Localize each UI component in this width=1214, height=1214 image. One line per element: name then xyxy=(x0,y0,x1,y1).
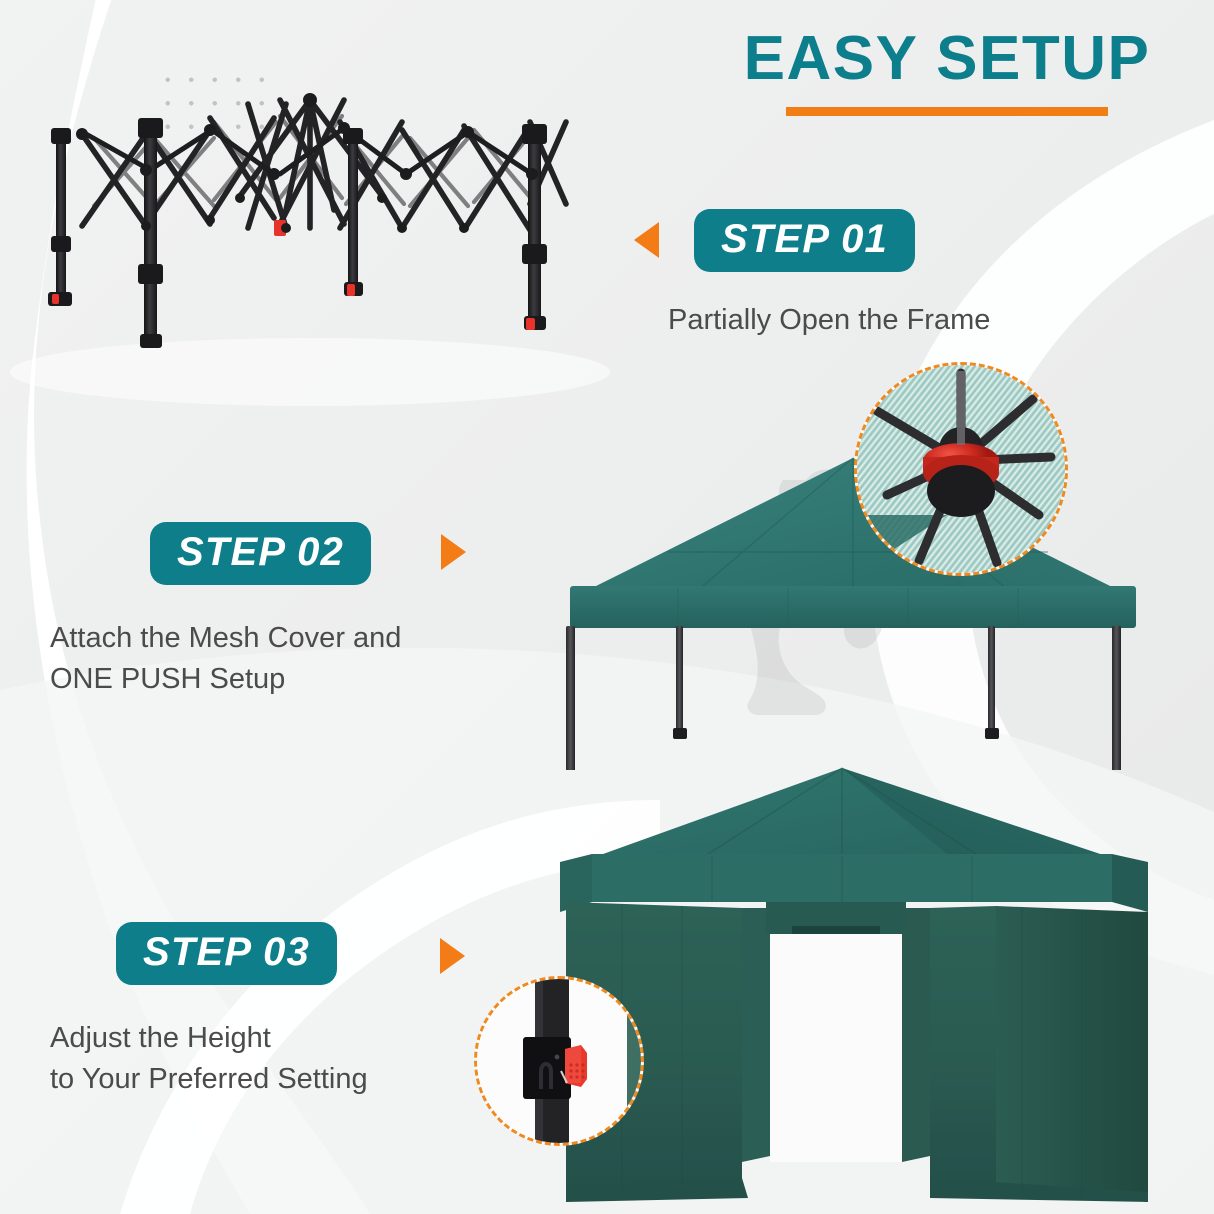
slider-housing xyxy=(523,1037,571,1099)
canopy-with-mesh-cover-image xyxy=(548,440,1158,770)
step-badge-03: STEP 03 xyxy=(116,922,337,985)
canopy-sidewall-svg xyxy=(552,762,1172,1202)
red-button-texture xyxy=(569,1063,584,1078)
step-description-01: Partially Open the Frame xyxy=(668,300,990,341)
canopy-valance xyxy=(570,586,1136,628)
triangle-right-icon-03 xyxy=(440,938,465,974)
step-badge-01: STEP 01 xyxy=(694,209,915,272)
triangle-right-icon-02 xyxy=(441,534,466,570)
infographic-root: EASY SETUP STEP 01 Partially Open the Fr… xyxy=(0,0,1214,1214)
canopy3-valance xyxy=(592,854,1112,902)
step-description-03: Adjust the Height to Your Preferred Sett… xyxy=(50,1018,368,1100)
push-button-hub-closeup xyxy=(854,362,1068,576)
hub-closeup-svg xyxy=(857,365,1065,573)
frame-svg xyxy=(34,78,594,378)
height-adjust-button-closeup xyxy=(474,976,644,1146)
door-flap-left xyxy=(742,908,770,1162)
page-title: EASY SETUP xyxy=(712,28,1182,90)
step-badge-02-label: STEP 02 xyxy=(177,531,344,573)
page-title-block: EASY SETUP xyxy=(712,28,1182,116)
title-underline xyxy=(786,107,1108,116)
height-button-svg xyxy=(477,979,641,1143)
housing-pin xyxy=(555,1055,560,1060)
red-clip-icon xyxy=(52,220,535,330)
canopy-mesh-svg xyxy=(548,440,1158,770)
step-badge-02: STEP 02 xyxy=(150,522,371,585)
step-description-02: Attach the Mesh Cover and ONE PUSH Setup xyxy=(50,618,401,700)
triangle-left-icon xyxy=(634,222,659,258)
step-badge-03-label: STEP 03 xyxy=(143,931,310,973)
sidewall-right-front xyxy=(930,906,996,1186)
hub-cap xyxy=(927,465,995,517)
door-flap-right xyxy=(902,908,930,1162)
sidewall-right-side xyxy=(996,906,1148,1202)
door-opening xyxy=(770,934,902,1162)
canopy3-valance-corner-r xyxy=(1112,854,1148,912)
canopy-legs xyxy=(566,626,1121,770)
center-rod xyxy=(957,371,965,445)
folded-canopy-frame-image xyxy=(34,78,594,378)
red-button-highlight xyxy=(565,1045,581,1083)
canopy-with-sidewalls-image xyxy=(552,762,1172,1202)
step-badge-01-label: STEP 01 xyxy=(721,218,888,260)
